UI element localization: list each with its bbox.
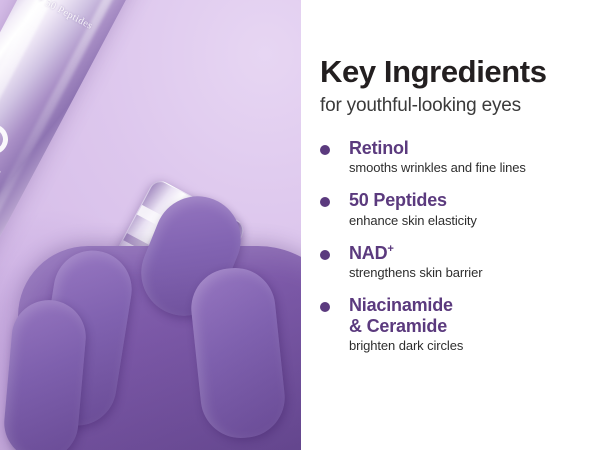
venus-cross [0, 160, 1, 176]
bullet-icon [320, 302, 330, 312]
list-item: Retinol smooths wrinkles and fine lines [320, 138, 576, 176]
key-ingredients-card: wrinkl9 + 50 Peptides Key Ingredients fo… [0, 0, 600, 450]
venus-ring [0, 119, 13, 160]
ingredient-description: strengthens skin barrier [349, 265, 482, 280]
bullet-icon [320, 145, 330, 155]
ingredients-panel: Key Ingredients for youthful-looking eye… [301, 0, 600, 450]
ingredient-text: Niacinamide & Ceramide brighten dark cir… [349, 295, 463, 353]
ingredient-text: NAD+ strengthens skin barrier [349, 243, 482, 281]
bullet-icon [320, 250, 330, 260]
ingredient-name-label: Retinol [349, 138, 409, 158]
page-subtitle: for youthful-looking eyes [320, 95, 576, 117]
ingredient-name-label: NAD [349, 243, 387, 263]
ingredient-text: Retinol smooths wrinkles and fine lines [349, 138, 526, 176]
page-title: Key Ingredients [320, 56, 576, 89]
list-item: 50 Peptides enhance skin elasticity [320, 190, 576, 228]
ingredient-text: 50 Peptides enhance skin elasticity [349, 190, 477, 228]
ingredient-name: NAD+ [349, 243, 482, 264]
ingredient-description: enhance skin elasticity [349, 213, 477, 228]
ingredient-name: 50 Peptides [349, 190, 477, 211]
list-item: NAD+ strengthens skin barrier [320, 243, 576, 281]
ingredient-description: brighten dark circles [349, 338, 463, 353]
ingredient-name: Retinol [349, 138, 526, 159]
ingredient-name: Niacinamide & Ceramide [349, 295, 463, 336]
list-item: Niacinamide & Ceramide brighten dark cir… [320, 295, 576, 353]
ingredient-list: Retinol smooths wrinkles and fine lines … [320, 138, 576, 354]
ingredient-name-label: Niacinamide & Ceramide [349, 295, 453, 336]
product-photo: wrinkl9 + 50 Peptides [0, 0, 301, 450]
ingredient-description: smooths wrinkles and fine lines [349, 160, 526, 175]
ingredient-name-suffix: + [387, 243, 393, 255]
bullet-icon [320, 197, 330, 207]
ingredient-name-label: 50 Peptides [349, 190, 447, 210]
tube-peptides-text: + 50 Peptides [35, 0, 94, 32]
